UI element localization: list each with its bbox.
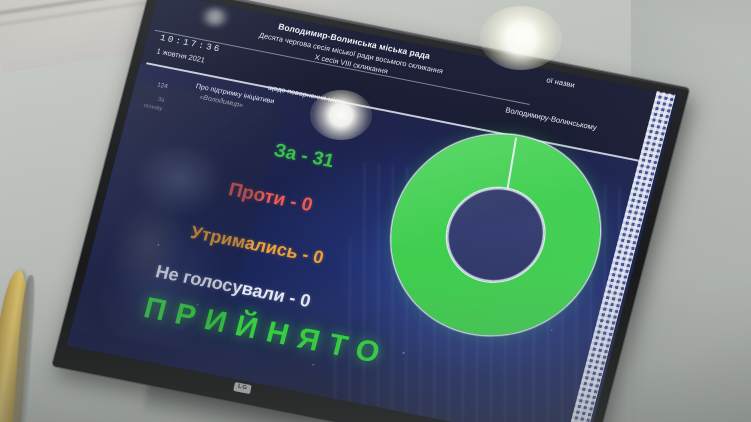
room-photo: Володимир-Волинська міська рада Десята ч… <box>0 0 751 422</box>
photo-vignette <box>0 0 751 422</box>
